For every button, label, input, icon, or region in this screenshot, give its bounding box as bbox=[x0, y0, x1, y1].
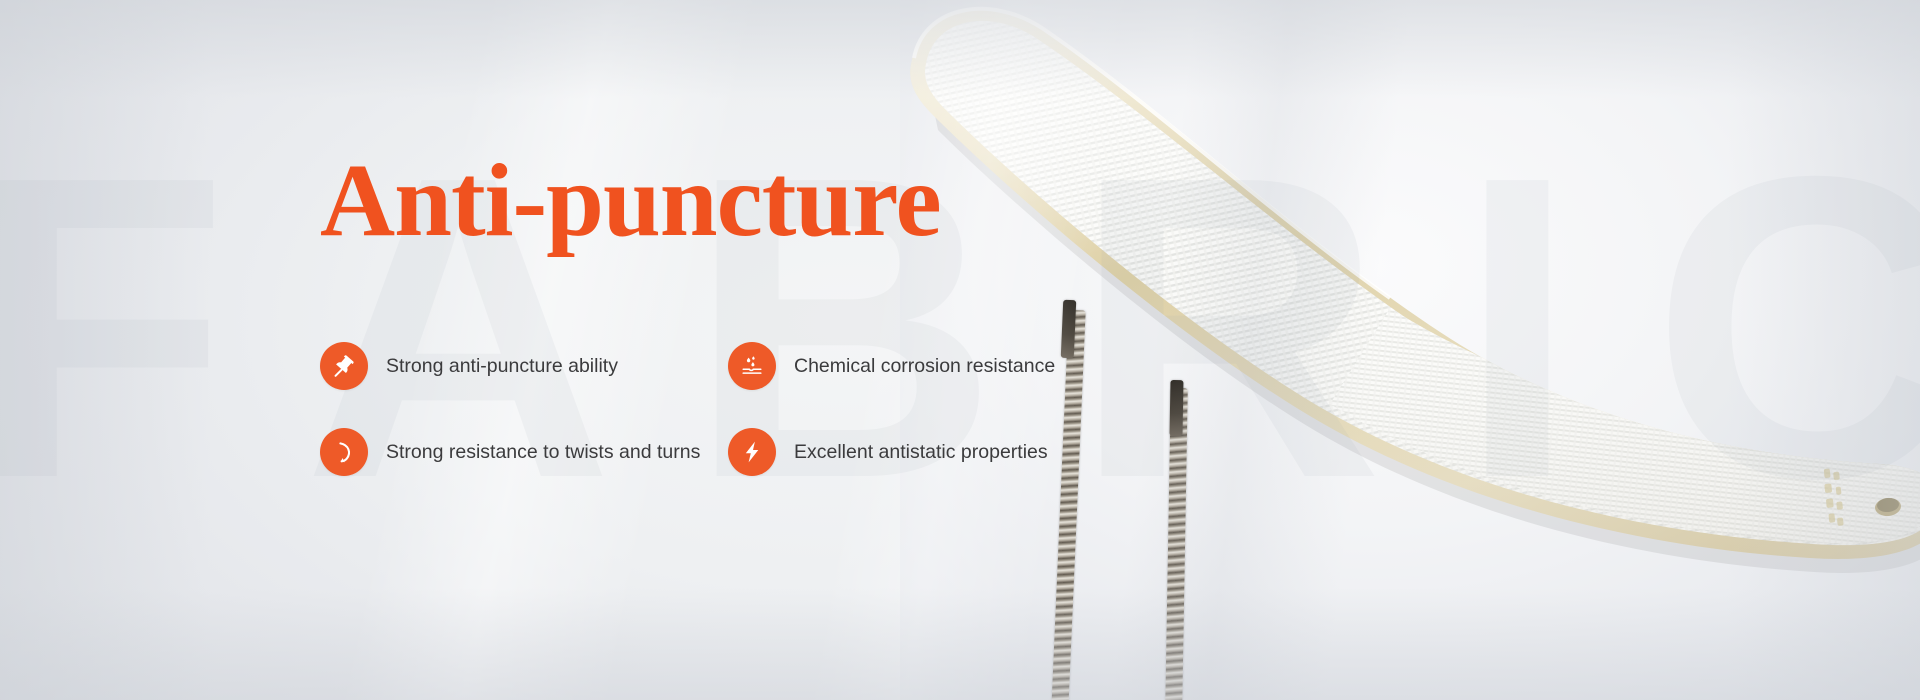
feature-label: Excellent antistatic properties bbox=[794, 441, 1048, 464]
metal-nail-right-tip bbox=[1170, 380, 1184, 436]
lightning-bolt-icon bbox=[728, 428, 776, 476]
fabric-watermark: F A B R I C bbox=[0, 48, 1920, 608]
watermark-letter-f: F bbox=[0, 113, 223, 543]
feature-list: Strong anti-puncture ability Chemical co… bbox=[320, 342, 1055, 514]
metal-nail-right bbox=[1165, 388, 1188, 700]
feature-label: Chemical corrosion resistance bbox=[794, 355, 1055, 378]
feature-item-twists-turns[interactable]: Strong resistance to twists and turns bbox=[320, 428, 728, 476]
watermark-letter-r: R bbox=[1073, 113, 1378, 543]
metal-nail-left bbox=[1051, 310, 1085, 700]
feature-item-chemical-corrosion[interactable]: Chemical corrosion resistance bbox=[728, 342, 1055, 390]
feature-item-antistatic[interactable]: Excellent antistatic properties bbox=[728, 428, 1055, 476]
watermark-letter-c: C bbox=[1651, 113, 1920, 543]
pushpin-icon bbox=[320, 342, 368, 390]
water-droplets-icon bbox=[728, 342, 776, 390]
watermark-letter-i: I bbox=[1458, 113, 1571, 543]
feature-label: Strong resistance to twists and turns bbox=[386, 441, 700, 464]
anti-puncture-banner: F A B R I C Anti-puncture Strong anti-pu… bbox=[0, 0, 1920, 700]
page-title: Anti-puncture bbox=[320, 146, 941, 255]
feature-item-anti-puncture[interactable]: Strong anti-puncture ability bbox=[320, 342, 728, 390]
metal-nail-left-tip bbox=[1061, 300, 1077, 359]
rotate-arrow-icon bbox=[320, 428, 368, 476]
feature-label: Strong anti-puncture ability bbox=[386, 355, 618, 378]
